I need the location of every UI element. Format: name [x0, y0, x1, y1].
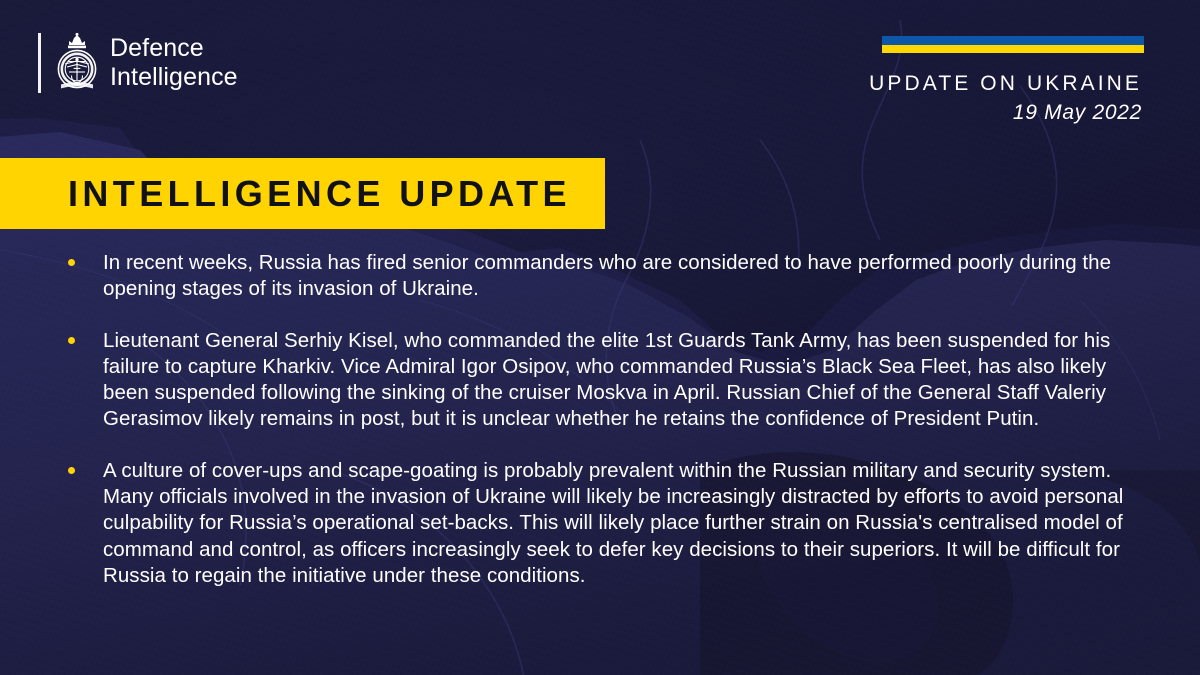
bullet-dot-icon	[68, 467, 75, 474]
update-date: 19 May 2022	[869, 101, 1142, 125]
update-on-ukraine-title: UPDATE ON UKRAINE	[869, 72, 1142, 96]
list-item: In recent weeks, Russia has fired senior…	[62, 250, 1140, 303]
defence-intelligence-crest-icon	[55, 32, 99, 94]
flag-stripe-yellow	[882, 45, 1144, 54]
intelligence-update-poster: Defence Intelligence UPDATE ON UKRAINE 1…	[0, 0, 1200, 675]
banner-label: INTELLIGENCE UPDATE	[0, 173, 571, 215]
logo-line-intelligence: Intelligence	[110, 63, 238, 92]
defence-intelligence-logo: Defence Intelligence	[38, 30, 238, 96]
flag-stripe-blue	[882, 36, 1144, 45]
logo-wordmark: Defence Intelligence	[110, 34, 238, 92]
logo-line-defence: Defence	[110, 34, 238, 63]
list-item: Lieutenant General Serhiy Kisel, who com…	[62, 328, 1140, 433]
intelligence-update-banner: INTELLIGENCE UPDATE	[0, 158, 605, 229]
bullet-list: In recent weeks, Russia has fired senior…	[62, 250, 1140, 589]
update-heading-group: UPDATE ON UKRAINE 19 May 2022	[869, 72, 1142, 125]
ukraine-flag-bar	[882, 36, 1144, 53]
logo-divider-rule	[38, 33, 41, 93]
bullet-dot-icon	[68, 337, 75, 344]
bullet-text: A culture of cover-ups and scape-goating…	[103, 459, 1123, 587]
bullet-text: In recent weeks, Russia has fired senior…	[103, 251, 1111, 300]
bullet-text: Lieutenant General Serhiy Kisel, who com…	[103, 329, 1110, 431]
list-item: A culture of cover-ups and scape-goating…	[62, 458, 1140, 589]
bullet-dot-icon	[68, 259, 75, 266]
